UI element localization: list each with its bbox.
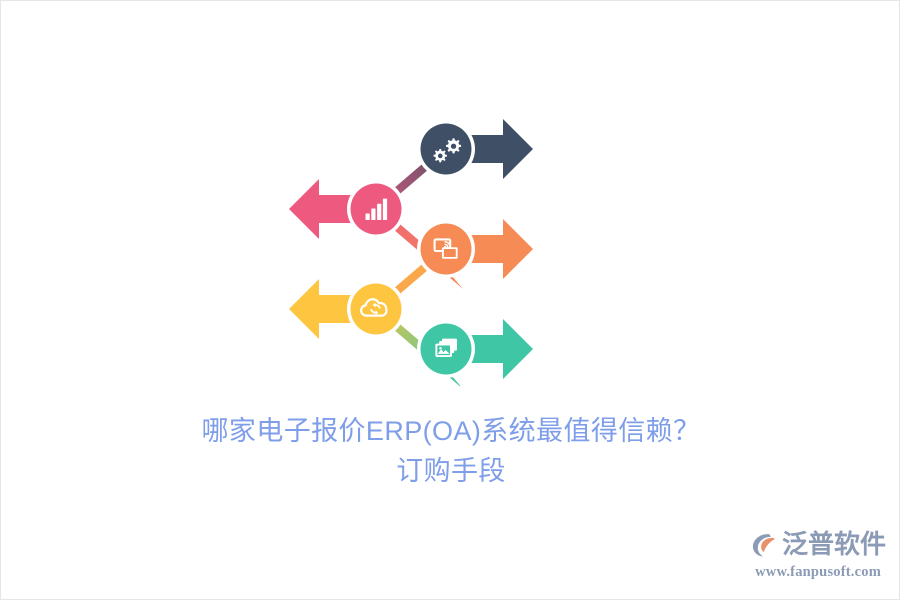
arrow-step-2-bar-chart <box>289 179 405 239</box>
image-canvas: 哪家电子报价ERP(OA)系统最值得信赖？ 订购手段 泛普软件 www.fanp… <box>0 0 900 600</box>
fanpu-logo-mark-icon <box>749 530 779 560</box>
arrow-step-4-cloud-sync <box>289 279 405 339</box>
title-line-1: 哪家电子报价ERP(OA)系统最值得信赖？ <box>1 411 900 451</box>
page-title: 哪家电子报价ERP(OA)系统最值得信赖？ 订购手段 <box>1 411 900 491</box>
title-line-2: 订购手段 <box>1 451 900 491</box>
arrow-step-5-photo-gallery <box>417 319 533 379</box>
brand-logo[interactable]: 泛普软件 www.fanpusoft.com <box>749 527 881 583</box>
arrow-process-infographic <box>271 101 551 386</box>
arrow-step-3-screencast <box>417 219 533 279</box>
logo-wordmark-text: 泛普软件 <box>782 530 886 560</box>
logo-wordmark-row: 泛普软件 <box>749 527 881 563</box>
logo-url-text: www.fanpusoft.com <box>749 563 881 581</box>
arrow-step-1-gears <box>417 119 533 179</box>
